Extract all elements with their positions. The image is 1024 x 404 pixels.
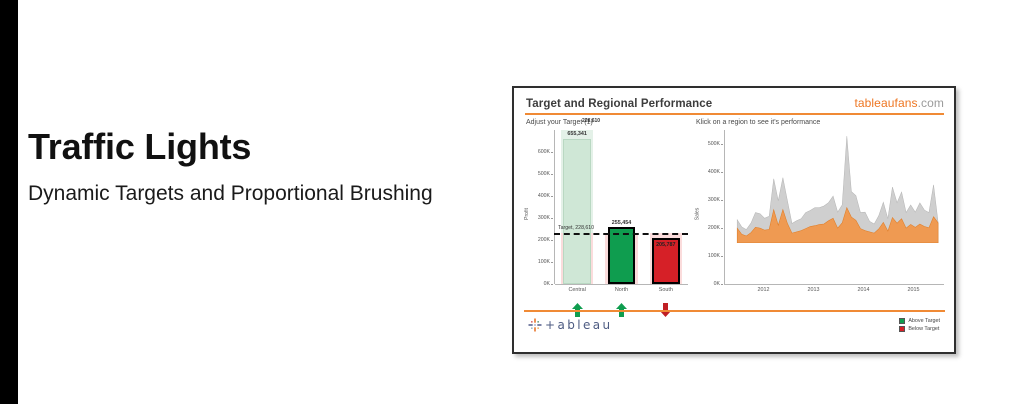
area-y-tick: 500K (708, 141, 720, 147)
bar-chart-caption: Adjust your Target (1) (522, 119, 688, 130)
brand-name: tableaufans (854, 96, 917, 110)
brand-logo: tableaufans.com (854, 96, 944, 110)
area-y-tick: 200K (708, 225, 720, 231)
tableau-dots-icon (528, 318, 542, 332)
bar-y-tick: 300K (538, 215, 550, 221)
area-x-tick: 2015 (908, 287, 920, 293)
dashboard-footer: +ableau Above TargetBelow Target (522, 310, 946, 348)
bar-column[interactable]: 205,787 (644, 130, 688, 284)
footer-divider (524, 310, 945, 312)
bar-chart-plot[interactable]: 228,610 Profit 0K100K200K300K400K500K600… (524, 130, 688, 298)
title-block: Traffic Lights Dynamic Targets and Propo… (28, 128, 508, 206)
page-subtitle: Dynamic Targets and Proportional Brushin… (28, 182, 508, 206)
bar-value-label: 255,454 (612, 220, 632, 226)
brand-tld: .com (918, 96, 944, 110)
bar-series[interactable]: 655,341255,454205,787 (555, 130, 688, 284)
dashboard-header: Target and Regional Performance tableauf… (522, 94, 946, 110)
tableau-wordmark: +ableau (545, 318, 613, 332)
dashboard-title: Target and Regional Performance (526, 98, 712, 110)
bar-y-tick: 100K (538, 259, 550, 265)
tableau-logo: +ableau (522, 318, 613, 332)
area-y-tick: 100K (708, 253, 720, 259)
legend-label: Below Target (908, 325, 939, 333)
bar-y-tick: 600K (538, 149, 550, 155)
header-divider (525, 113, 944, 115)
area-chart-plot[interactable]: Sales 0K100K200K300K400K500K 20122013201… (694, 130, 946, 298)
area-y-tick: 400K (708, 169, 720, 175)
bar-x-axis: CentralNorthSouth (555, 284, 688, 298)
status-legend: Above TargetBelow Target (899, 317, 946, 333)
bar-y-tick: 0K (544, 281, 550, 287)
area-chart-caption: Klick on a region to see it's performanc… (692, 119, 946, 130)
area-y-axis: 0K100K200K300K400K500K (694, 130, 724, 284)
dashboard-body: Adjust your Target (1) 228,610 Profit 0K… (522, 119, 946, 305)
bar-value-label: 655,341 (567, 131, 587, 137)
area-x-axis: 2012201320142015 (724, 284, 944, 298)
area-y-tick: 0K (714, 281, 720, 287)
bar-value-label: 205,787 (656, 242, 676, 248)
regional-area-panel: Klick on a region to see it's performanc… (690, 119, 946, 305)
bar-column[interactable]: 255,454 (599, 130, 643, 284)
bar-south[interactable]: 205,787 (652, 238, 679, 283)
dashboard-card: Target and Regional Performance tableauf… (512, 86, 956, 354)
legend-swatch (899, 318, 905, 324)
bar-x-tick: North (599, 285, 643, 298)
legend-label: Above Target (908, 317, 940, 325)
bar-y-axis: 0K100K200K300K400K500K600K (524, 130, 554, 284)
area-y-tick: 300K (708, 197, 720, 203)
area-series[interactable] (724, 130, 944, 243)
area-x-tick: 2013 (808, 287, 820, 293)
bar-central[interactable]: 655,341 (563, 139, 590, 283)
bar-north[interactable]: 255,454 (608, 227, 635, 283)
slide-canvas: Traffic Lights Dynamic Targets and Propo… (0, 0, 1024, 404)
bar-x-tick: South (644, 285, 688, 298)
page-title: Traffic Lights (28, 128, 508, 166)
bar-x-tick: Central (555, 285, 599, 298)
area-x-tick: 2014 (858, 287, 870, 293)
bar-y-tick: 500K (538, 171, 550, 177)
legend-item[interactable]: Below Target (899, 325, 940, 333)
target-reference-label: Target, 228,610 (558, 225, 594, 231)
area-x-tick: 2012 (758, 287, 770, 293)
bar-y-tick: 200K (538, 237, 550, 243)
bar-column[interactable]: 655,341 (555, 130, 599, 284)
top-reference-label: 228,610 (582, 118, 600, 124)
target-reference-line (554, 233, 688, 235)
left-edge-rail (0, 0, 18, 404)
target-bar-panel: Adjust your Target (1) 228,610 Profit 0K… (522, 119, 688, 305)
bar-y-tick: 400K (538, 193, 550, 199)
legend-item[interactable]: Above Target (899, 317, 940, 325)
legend-swatch (899, 326, 905, 332)
